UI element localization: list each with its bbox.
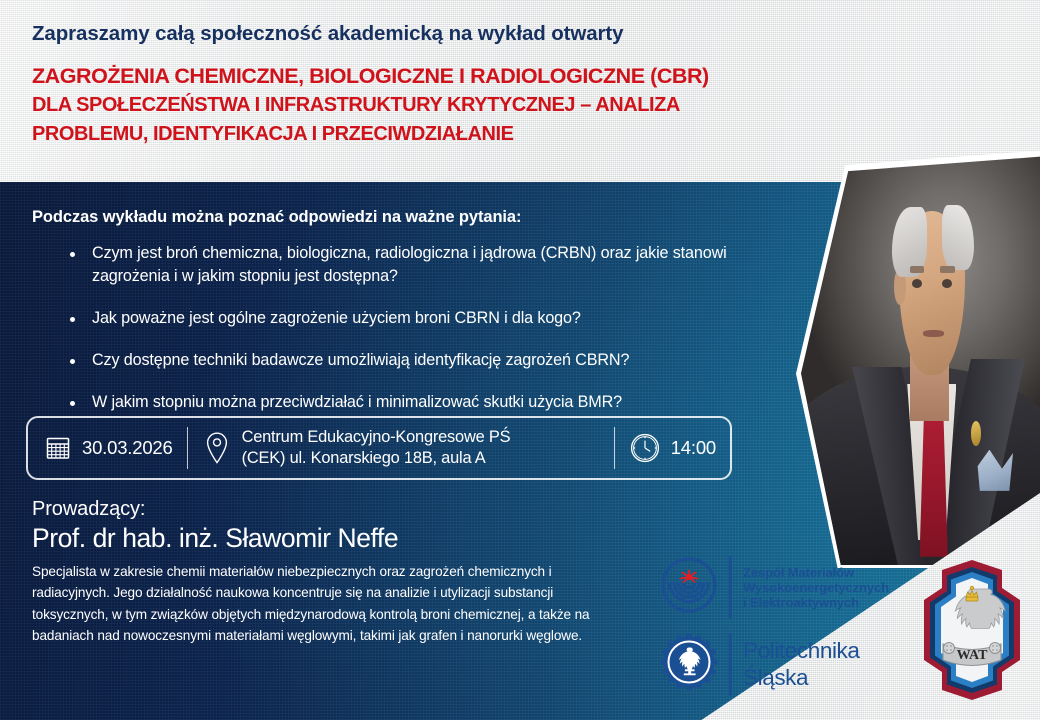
zmwie-line-2: Wysokoenergetycznych [743, 580, 889, 595]
invitation-line: Zapraszamy całą społeczność akademicką n… [32, 22, 1020, 46]
list-item: Jak poważne jest ogólne zagrożenie użyci… [66, 307, 766, 330]
event-location-text: Centrum Edukacyjno-Kongresowe PŚ (CEK) u… [242, 427, 511, 469]
title-line-1: ZAGROŻENIA CHEMICZNE, BIOLOGICZNE I RADI… [32, 64, 1020, 89]
calendar-icon [44, 434, 72, 462]
speaker-name: Prof. dr hab. inż. Sławomir Neffe [32, 523, 632, 554]
logo-politechnika-label: Politechnika Śląska [743, 638, 860, 691]
clock-icon [629, 432, 661, 464]
zmwie-line-1: Zespół Materiałów [743, 565, 854, 580]
speaker-role-label: Prowadzący: [32, 498, 632, 521]
zmwie-line-3: i Elektroaktywnych [743, 595, 859, 610]
divider [729, 556, 732, 619]
wat-crest-icon: WAT [916, 556, 1028, 704]
event-details-box: 30.03.2026 Centrum Edukacyjno-Kongresowe… [26, 416, 732, 480]
question-text: Czym jest broń chemiczna, biologiczna, r… [92, 244, 727, 285]
portrait-image [799, 153, 1040, 565]
title-line-2: DLA SPOŁECZEŃSTWA I INFRASTRUKTURY KRYTY… [32, 94, 1020, 118]
location-line-2: (CEK) ul. Konarskiego 18B, aula A [242, 449, 486, 467]
poster-header: Zapraszamy całą społeczność akademicką n… [0, 0, 1040, 182]
radiating-waves-icon [660, 556, 718, 619]
question-text: Jak poważne jest ogólne zagrożenie użyci… [92, 309, 581, 327]
map-pin-icon [204, 431, 230, 465]
bullet-icon [70, 252, 75, 257]
question-text: W jakim stopniu można przeciwdziałać i m… [92, 393, 622, 411]
event-date-value: 30.03.2026 [82, 437, 173, 459]
speaker-block: Prowadzący: Prof. dr hab. inż. Sławomir … [32, 498, 632, 647]
list-item: Czym jest broń chemiczna, biologiczna, r… [66, 242, 766, 288]
gear-eagle-icon [660, 633, 718, 696]
list-item: W jakim stopniu można przeciwdziałać i m… [66, 391, 766, 414]
question-text: Czy dostępne techniki badawcze umożliwia… [92, 351, 629, 369]
event-location-cell: Centrum Edukacyjno-Kongresowe PŚ (CEK) u… [188, 418, 614, 478]
ps-line-1: Politechnika [743, 638, 860, 663]
ps-line-2: Śląska [743, 665, 808, 690]
bullet-icon [70, 317, 75, 322]
bullet-icon [70, 401, 75, 406]
title-line-3: PROBLEMU, IDENTYFIKACJA I PRZECIWDZIAŁAN… [32, 123, 1020, 147]
bullet-icon [70, 359, 75, 364]
questions-list: Czym jest broń chemiczna, biologiczna, r… [66, 242, 766, 433]
divider [729, 633, 732, 696]
event-date-cell: 30.03.2026 [28, 418, 187, 478]
location-line-1: Centrum Edukacyjno-Kongresowe PŚ [242, 428, 511, 446]
event-time-cell: 14:00 [615, 418, 730, 478]
speaker-bio: Specjalista w zakresie chemii materiałów… [32, 561, 615, 647]
list-item: Czy dostępne techniki badawcze umożliwia… [66, 349, 766, 372]
lead-question-intro: Podczas wykładu można poznać odpowiedzi … [32, 208, 521, 227]
event-time-value: 14:00 [671, 437, 716, 459]
event-poster: Zapraszamy całą społeczność akademicką n… [0, 0, 1040, 720]
wat-label: WAT [957, 648, 989, 663]
logo-zmwie-label: Zespół Materiałów Wysokoenergetycznych i… [743, 565, 889, 611]
